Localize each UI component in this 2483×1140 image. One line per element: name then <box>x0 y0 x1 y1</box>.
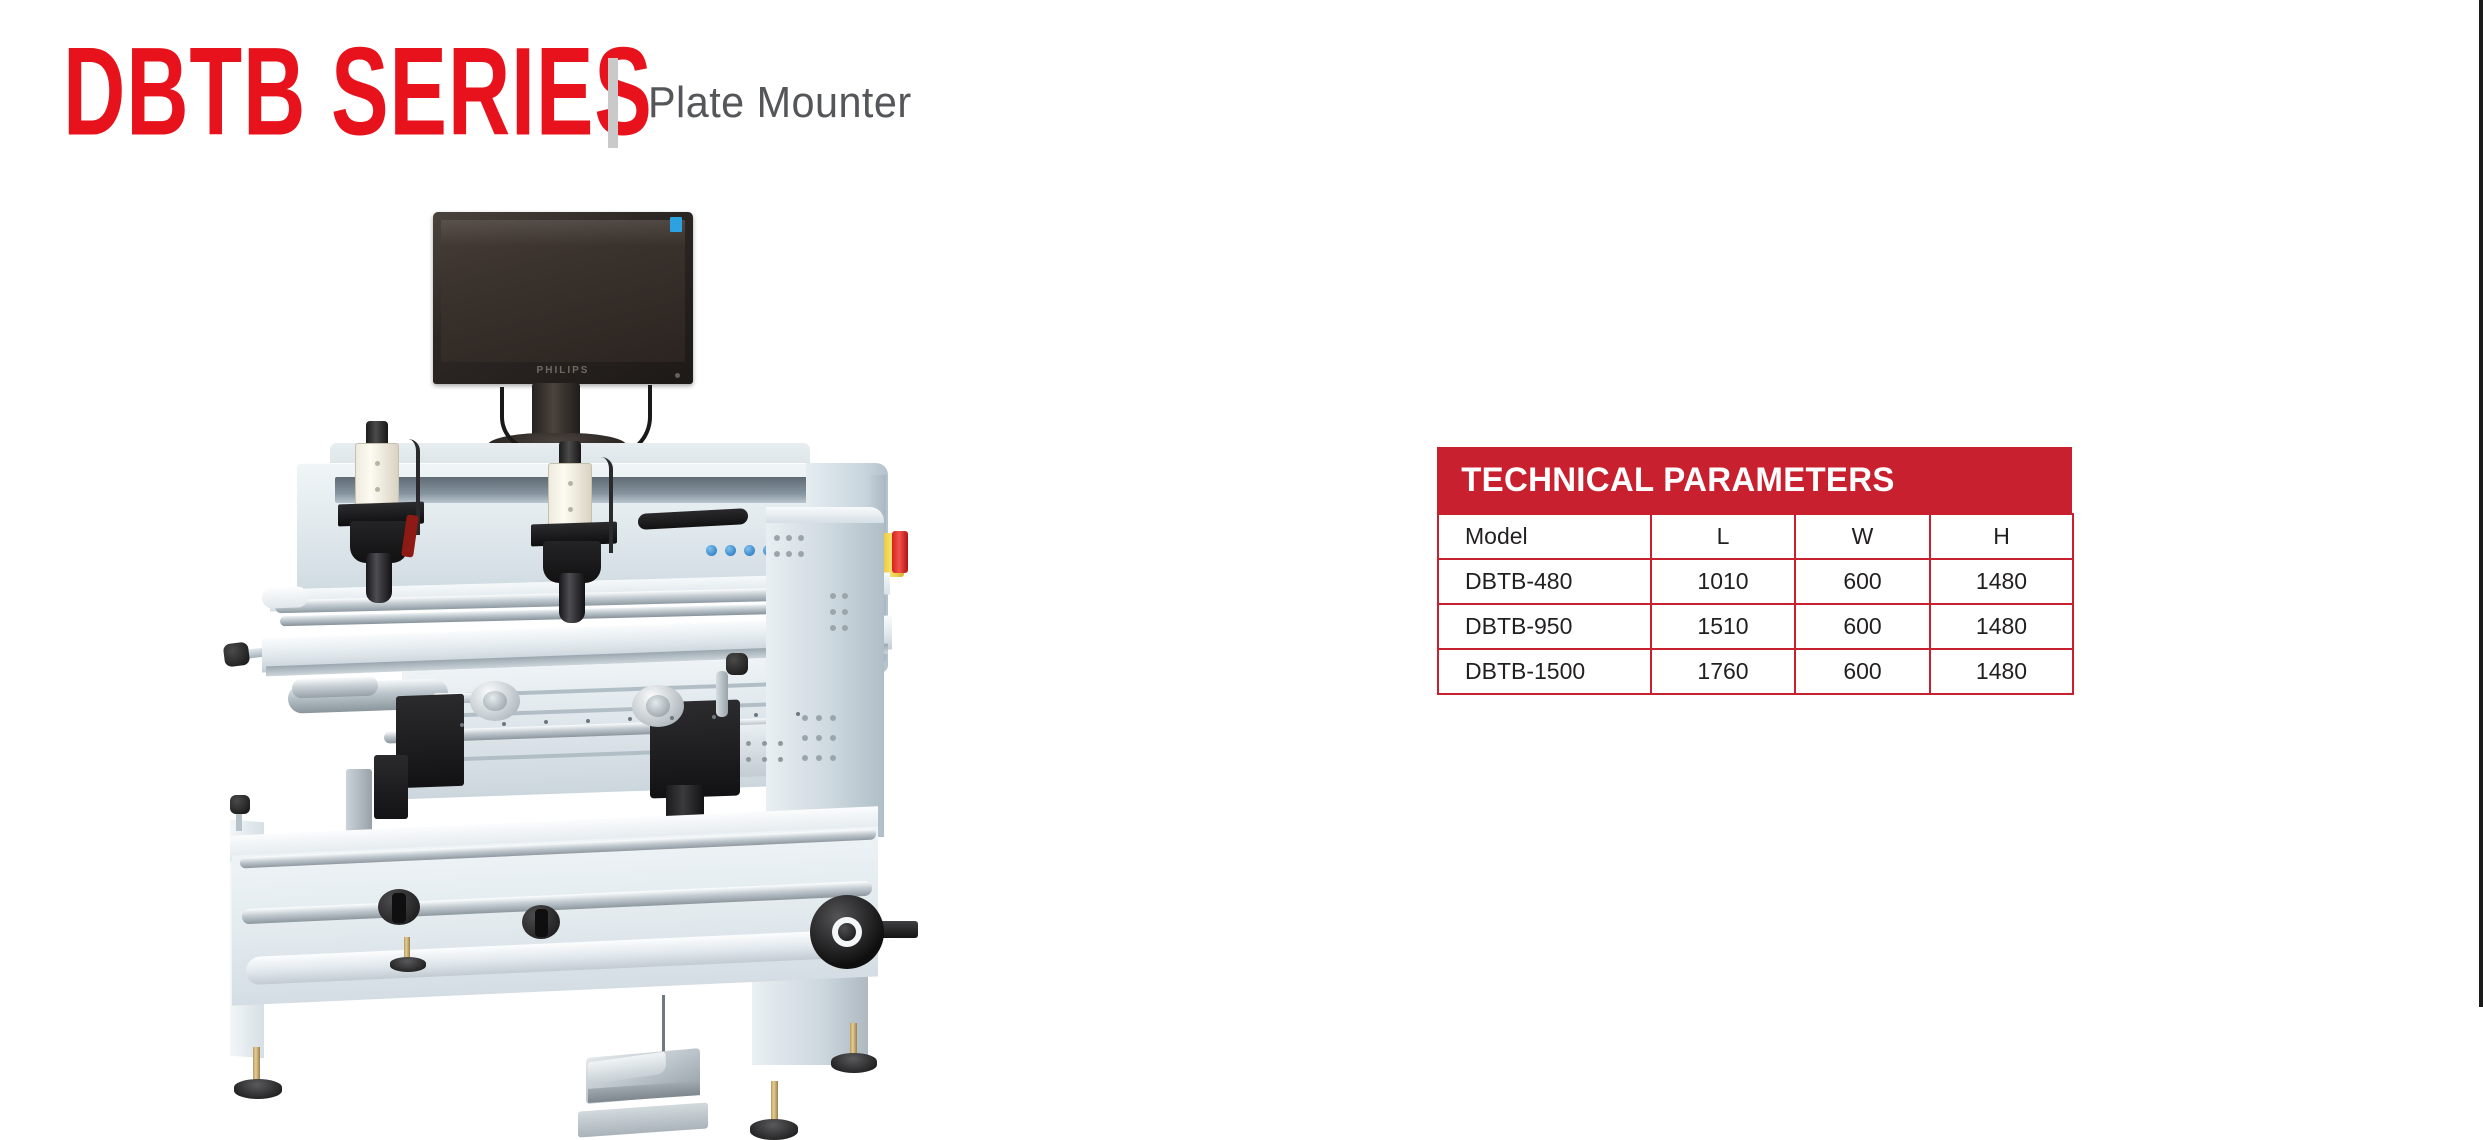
carriage-rail-hole <box>778 757 783 762</box>
left-carriage-disc-hub <box>483 691 507 711</box>
cell-w: 600 <box>1795 559 1930 604</box>
middle-rail-dot <box>586 719 590 723</box>
base-roller-1-hub <box>392 893 406 923</box>
foot-1-stem <box>253 1047 260 1083</box>
panel-blue-button-1[interactable] <box>706 545 717 556</box>
foot-1-pad <box>234 1079 282 1099</box>
side-wall-hole <box>830 735 836 741</box>
side-wall-hole <box>830 755 836 761</box>
carriage-rail-hole <box>762 741 767 746</box>
foot-2-pad <box>390 957 426 972</box>
title-divider <box>608 58 618 148</box>
left-carriage-arm <box>374 755 408 819</box>
rail-end-cap-left <box>262 586 309 609</box>
head-b-wire-loom <box>591 457 613 553</box>
side-wall-hole <box>830 593 836 599</box>
foot-pedal-base <box>578 1102 708 1137</box>
side-wall-hole <box>798 551 804 557</box>
technical-parameters-title: TECHNICAL PARAMETERS <box>1437 461 1895 500</box>
side-wall-hole <box>830 609 836 615</box>
carriage-rail-hole <box>762 757 767 762</box>
spec-grid: Model L W H DBTB-480 1010 600 1480 DBTB-… <box>1437 513 2074 695</box>
column-header-model: Model <box>1438 514 1651 559</box>
foot-3-pad <box>831 1053 877 1073</box>
table-row: DBTB-1500 1760 600 1480 <box>1438 649 2073 694</box>
middle-rail-dot <box>460 723 464 727</box>
carriage-rail-hole <box>746 757 751 762</box>
table-row: DBTB-480 1010 600 1480 <box>1438 559 2073 604</box>
technical-parameters-header: TECHNICAL PARAMETERS <box>1437 447 2072 513</box>
side-wall-hole <box>830 715 836 721</box>
base-left-knob-stem <box>236 811 242 831</box>
technical-parameters-table: TECHNICAL PARAMETERS Model L W H DBTB-48… <box>1437 447 2072 695</box>
cell-w: 600 <box>1795 604 1930 649</box>
right-carriage-disc-hub <box>646 695 670 717</box>
head-b-screw-1 <box>568 481 573 486</box>
middle-rail-dot <box>796 712 800 716</box>
cell-model: DBTB-1500 <box>1438 649 1651 694</box>
side-wall-hole <box>774 535 780 541</box>
column-header-l: L <box>1651 514 1795 559</box>
side-wall-hole <box>816 755 822 761</box>
product-photo: PHILIPS <box>170 195 930 985</box>
left-carriage-support <box>346 769 372 835</box>
head-b-camera-lens <box>559 573 585 623</box>
side-wall-hole <box>802 735 808 741</box>
head-a-screw-1 <box>375 461 380 466</box>
base-left-knob[interactable] <box>230 795 250 814</box>
monitor-power-led-icon <box>675 373 680 378</box>
middle-rail-dot <box>712 715 716 719</box>
cell-l: 1760 <box>1651 649 1795 694</box>
side-wall-hole <box>816 735 822 741</box>
series-title: DBTB SERIES <box>63 22 653 161</box>
side-wall-hole <box>842 609 848 615</box>
head-a-screw-2 <box>375 487 380 492</box>
side-wall-hole <box>816 715 822 721</box>
table-row: DBTB-950 1510 600 1480 <box>1438 604 2073 649</box>
monitor-brand-logo: PHILIPS <box>522 365 604 376</box>
foot-3-stem <box>850 1023 857 1057</box>
carriage-rail-hole <box>778 741 783 746</box>
side-wall-hole <box>830 625 836 631</box>
page-header: DBTB SERIES Plate Mounter <box>0 0 2483 175</box>
table-header-row: Model L W H <box>1438 514 2073 559</box>
panel-blue-button-2[interactable] <box>725 545 736 556</box>
cell-h: 1480 <box>1930 649 2073 694</box>
side-wall-hole <box>802 755 808 761</box>
middle-rail-dot <box>502 722 506 726</box>
foot-4-stem <box>771 1081 778 1123</box>
panel-blue-button-3[interactable] <box>744 545 755 556</box>
emergency-stop-button[interactable] <box>892 531 908 573</box>
middle-adjust-knob[interactable] <box>726 653 748 675</box>
side-wall-hole <box>774 551 780 557</box>
side-wall-hole <box>786 535 792 541</box>
cell-h: 1480 <box>1930 604 2073 649</box>
product-subtitle: Plate Mounter <box>648 78 912 128</box>
right-side-wall-lip <box>766 507 884 523</box>
cell-l: 1510 <box>1651 604 1795 649</box>
middle-rail-dot <box>670 716 674 720</box>
middle-adjust-arm <box>716 671 728 717</box>
side-wall-hole <box>786 551 792 557</box>
side-wall-hole <box>842 593 848 599</box>
side-wall-hole <box>802 715 808 721</box>
hand-wheel-hub <box>838 923 856 941</box>
cell-model: DBTB-950 <box>1438 604 1651 649</box>
base-roller-2-hub <box>535 909 548 937</box>
head-b-screw-2 <box>568 507 573 512</box>
cell-h: 1480 <box>1930 559 2073 604</box>
right-side-wall <box>766 507 884 837</box>
side-wall-hole <box>842 625 848 631</box>
monitor-screen-glare <box>441 220 685 246</box>
head-a-camera-lens <box>366 553 392 603</box>
monitor-sticker-icon <box>670 217 682 232</box>
column-header-h: H <box>1930 514 2073 559</box>
left-adjust-knob[interactable] <box>223 642 251 668</box>
cell-w: 600 <box>1795 649 1930 694</box>
foot-4-pad <box>750 1119 798 1140</box>
side-wall-hole <box>798 535 804 541</box>
cell-l: 1010 <box>1651 559 1795 604</box>
middle-roller-chrome <box>292 675 378 698</box>
carriage-rail-hole <box>746 741 751 746</box>
cell-model: DBTB-480 <box>1438 559 1651 604</box>
column-header-w: W <box>1795 514 1930 559</box>
